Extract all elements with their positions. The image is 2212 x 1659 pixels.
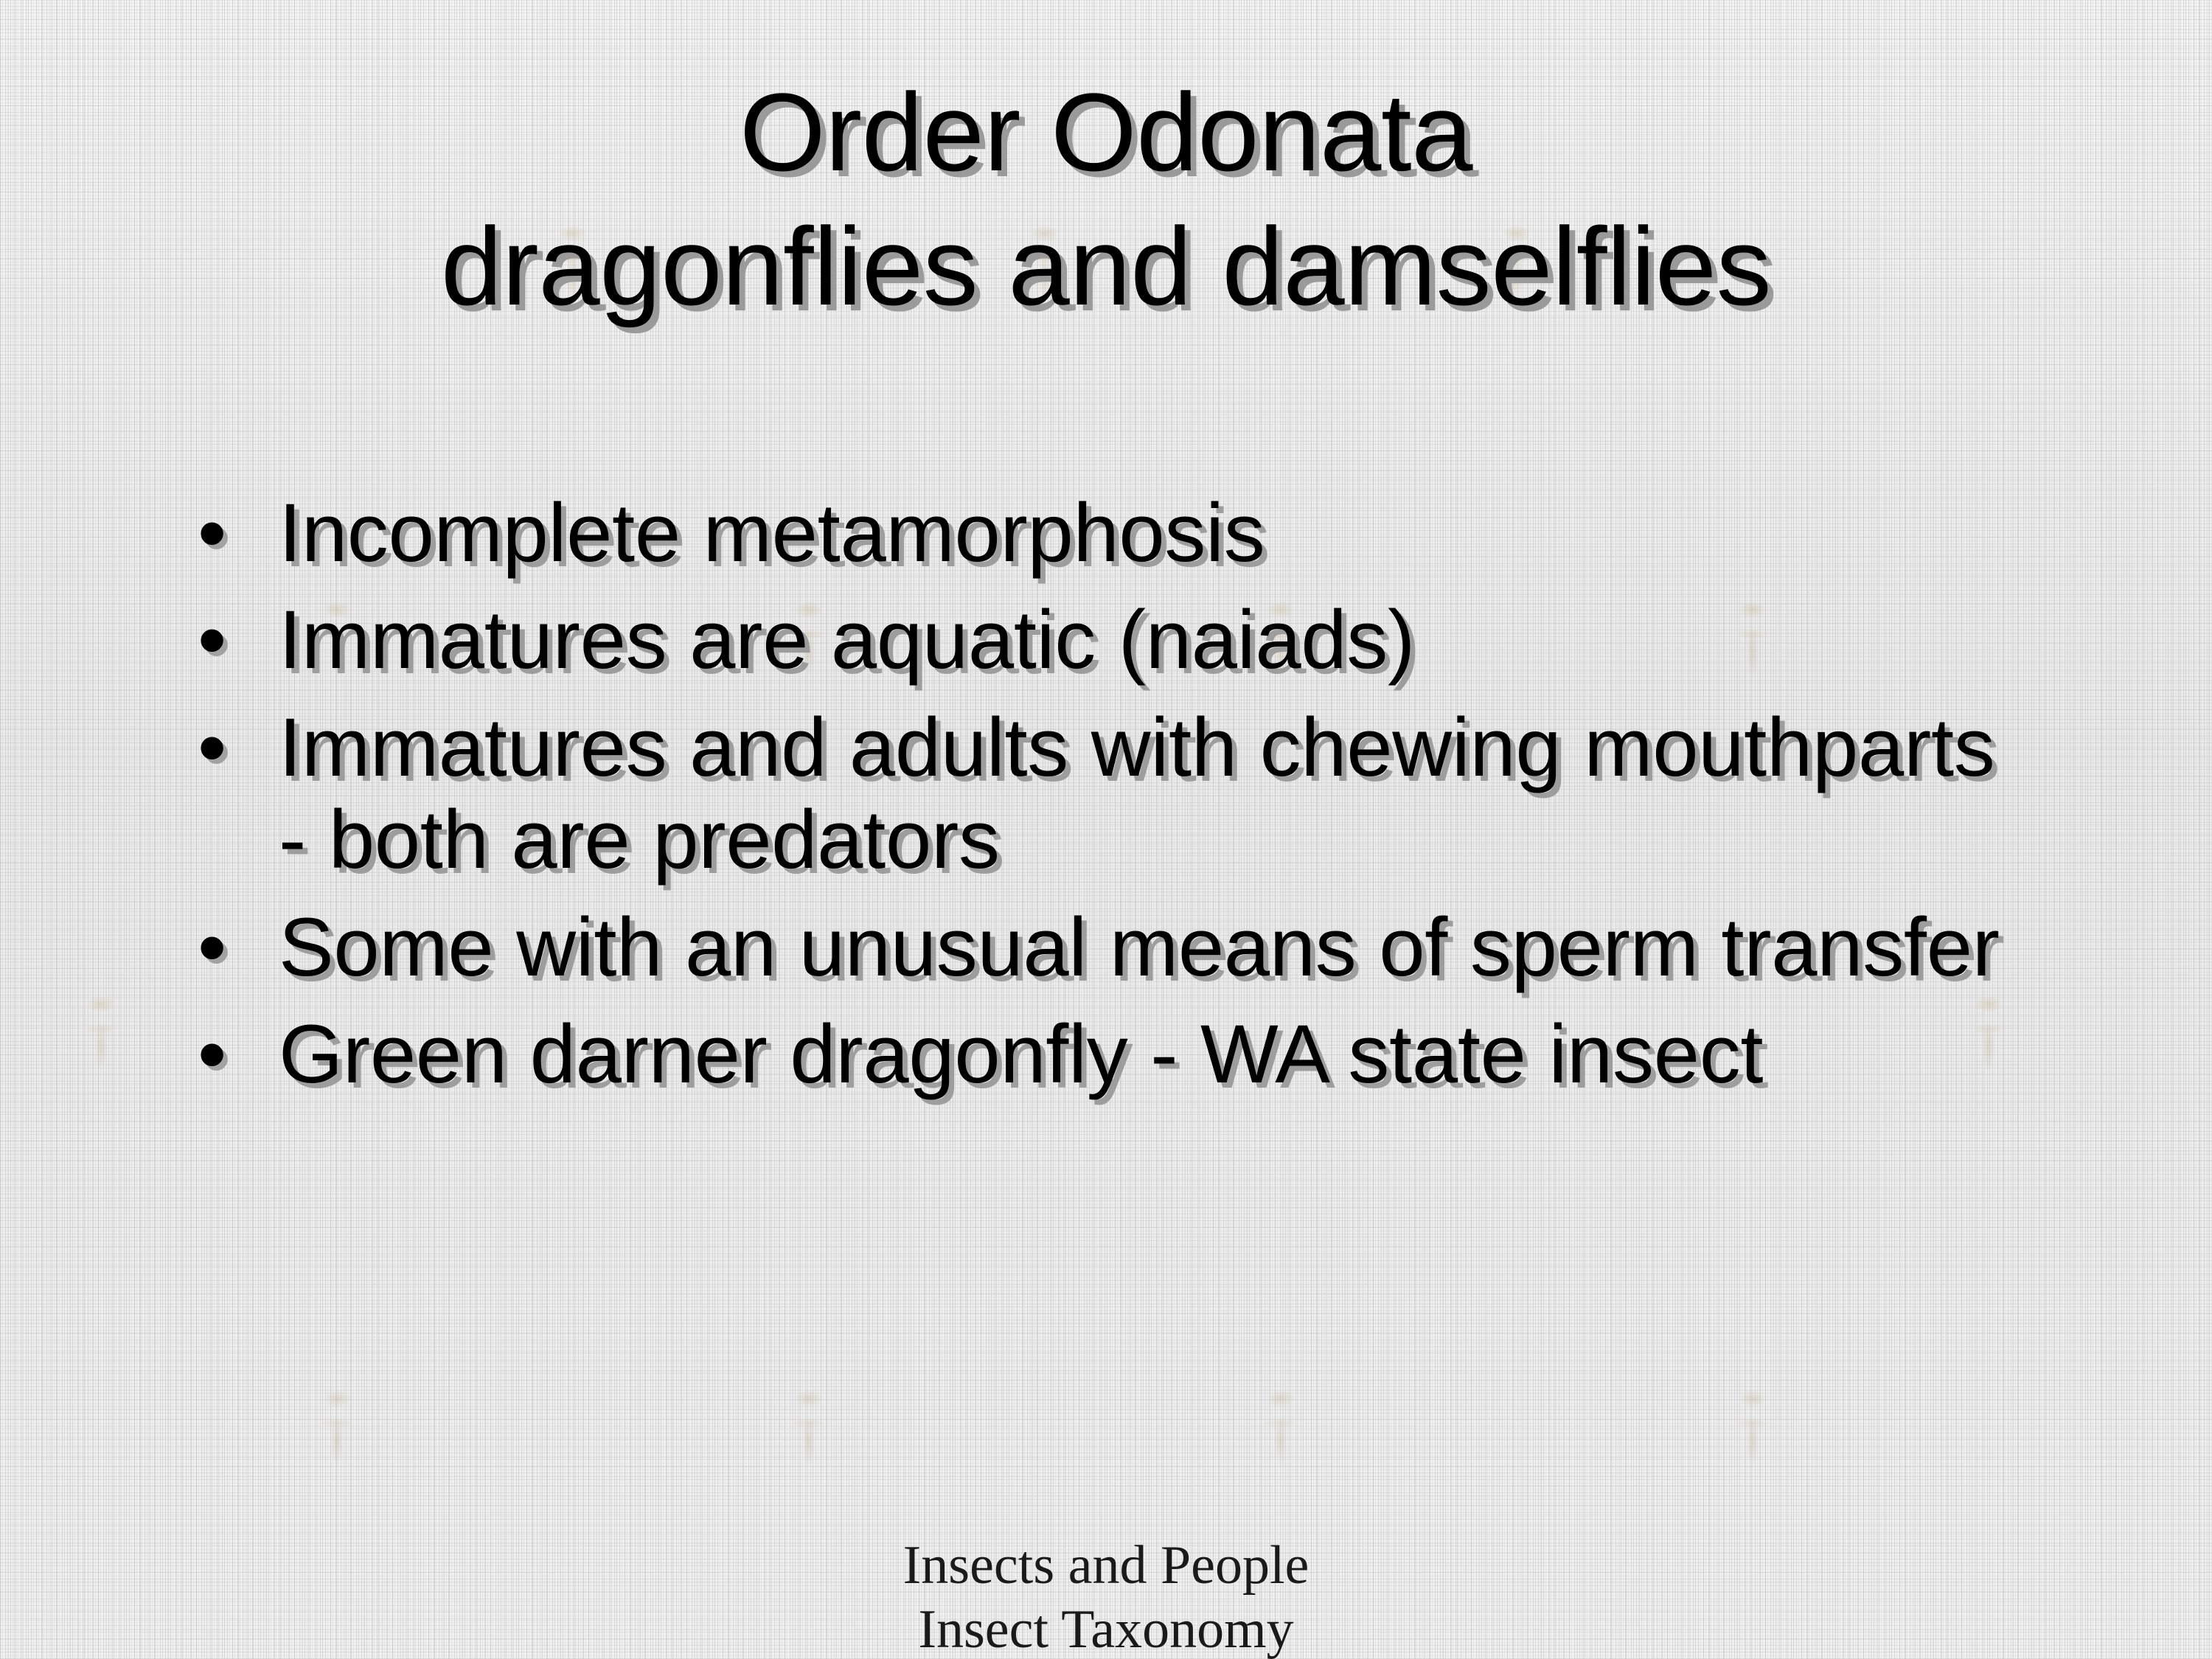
slide-title-line-1: Order Odonata — [0, 77, 2212, 187]
slide-canvas: Order Odonata dragonflies and damselflie… — [0, 0, 2212, 1659]
slide-title: Order Odonata dragonflies and damselflie… — [0, 77, 2212, 321]
watermark-motif — [81, 992, 121, 1080]
bullet-list: • Incomplete metamorphosis • Immatures a… — [183, 487, 2026, 1116]
bullet-point-icon: • — [183, 594, 279, 686]
list-item: • Green darner dragonfly - WA state inse… — [183, 1008, 2026, 1100]
watermark-motif — [317, 1386, 357, 1475]
watermark-motif — [1733, 1386, 1773, 1475]
bullet-point-icon: • — [183, 701, 279, 793]
slide-footer: Insects and People Insect Taxonomy — [0, 1534, 2212, 1659]
bullet-point-icon: • — [183, 487, 279, 579]
list-item-text: Immatures are aquatic (naiads) — [279, 594, 2026, 686]
list-item: • Immatures and adults with chewing mout… — [183, 701, 2026, 886]
list-item-text: Immatures and adults with chewing mouthp… — [279, 701, 2026, 886]
watermark-motif — [789, 1386, 829, 1475]
bullet-point-icon: • — [183, 1008, 279, 1100]
bullet-point-icon: • — [183, 901, 279, 993]
list-item: • Some with an unusual means of sperm tr… — [183, 901, 2026, 993]
footer-line-1: Insects and People — [0, 1534, 2212, 1598]
list-item: • Incomplete metamorphosis — [183, 487, 2026, 579]
list-item-text: Green darner dragonfly - WA state insect — [279, 1008, 2026, 1100]
list-item-text: Incomplete metamorphosis — [279, 487, 2026, 579]
watermark-motif — [1261, 1386, 1301, 1475]
footer-line-2: Insect Taxonomy — [0, 1598, 2212, 1659]
list-item: • Immatures are aquatic (naiads) — [183, 594, 2026, 686]
slide-title-line-2: dragonflies and damselflies — [0, 211, 2212, 321]
list-item-text: Some with an unusual means of sperm tran… — [279, 901, 2026, 993]
